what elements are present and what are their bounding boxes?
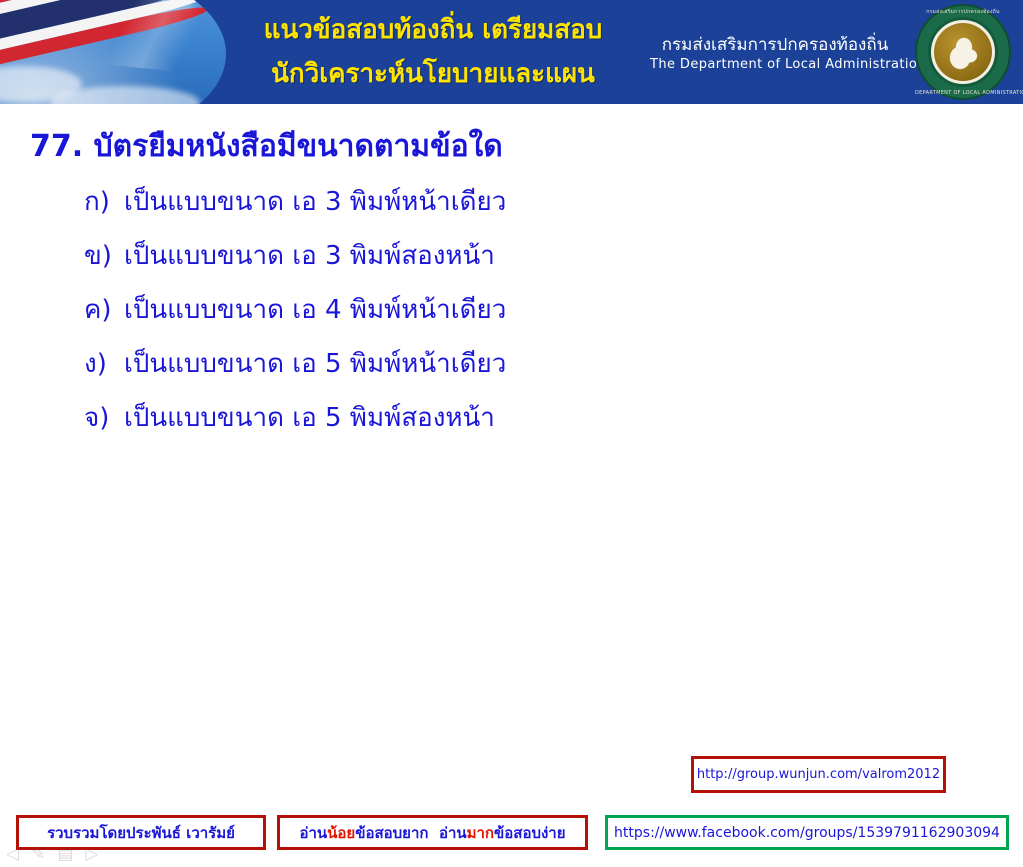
choice-key: จ)	[84, 402, 124, 434]
pen-tool-icon[interactable]: ✎	[31, 841, 45, 867]
choice-option-ka[interactable]: ก) เป็นแบบขนาด เอ 3 พิมพ์หน้าเดียว	[84, 186, 944, 240]
seal-text-english: DEPARTMENT OF LOCAL ADMINISTRATION	[915, 90, 1011, 96]
website-url-box[interactable]: http://group.wunjun.com/valrom2012	[691, 756, 946, 793]
choice-key: ข)	[84, 240, 124, 272]
motto-gap	[428, 824, 438, 842]
thai-flag-graphic	[0, 0, 226, 104]
choice-text: เป็นแบบขนาด เอ 3 พิมพ์สองหน้า	[124, 240, 495, 272]
choice-option-cho[interactable]: จ) เป็นแบบขนาด เอ 5 พิมพ์สองหน้า	[84, 402, 944, 456]
motto-box: อ่านน้อยข้อสอบยาก อ่านมากข้อสอบง่าย	[277, 815, 588, 850]
choice-key: ก)	[84, 186, 124, 218]
header-banner: แนวข้อสอบท้องถิ่น เตรียมสอบ นักวิเคราะห์…	[0, 0, 1023, 104]
choice-text: เป็นแบบขนาด เอ 4 พิมพ์หน้าเดียว	[124, 294, 506, 326]
banner-title: แนวข้อสอบท้องถิ่น เตรียมสอบ นักวิเคราะห์…	[218, 8, 648, 96]
choice-option-ngo[interactable]: ง) เป็นแบบขนาด เอ 5 พิมพ์หน้าเดียว	[84, 348, 944, 402]
seal-text-thai: กรมส่งเสริมการปกครองท้องถิ่น	[915, 8, 1011, 16]
department-name-english: The Department of Local Administration	[650, 56, 900, 74]
next-slide-icon[interactable]: ▷	[85, 841, 98, 867]
motto-part-4: อ่าน	[439, 824, 467, 842]
banner-title-line1: แนวข้อสอบท้องถิ่น เตรียมสอบ	[264, 15, 603, 45]
previous-slide-icon[interactable]: ◁	[6, 841, 19, 867]
motto-highlight-2: มาก	[467, 824, 494, 842]
choice-option-kho[interactable]: ข) เป็นแบบขนาด เอ 3 พิมพ์สองหน้า	[84, 240, 944, 294]
choice-key: ค)	[84, 294, 124, 326]
choice-option-kho2[interactable]: ค) เป็นแบบขนาด เอ 4 พิมพ์หน้าเดียว	[84, 294, 944, 348]
slide-body: 77. บัตรยืมหนังสือมีขนาดตามข้อใด ก) เป็น…	[0, 104, 1023, 767]
singha-lion-icon	[939, 28, 987, 76]
choice-list: ก) เป็นแบบขนาด เอ 3 พิมพ์หน้าเดียว ข) เป…	[84, 186, 944, 456]
motto-text: อ่านน้อยข้อสอบยาก อ่านมากข้อสอบง่าย	[299, 821, 565, 845]
motto-part-6: ข้อสอบง่าย	[494, 824, 565, 842]
facebook-group-box[interactable]: https://www.facebook.com/groups/15397911…	[605, 815, 1009, 850]
choice-text: เป็นแบบขนาด เอ 5 พิมพ์หน้าเดียว	[124, 348, 506, 380]
department-seal-logo: กรมส่งเสริมการปกครองท้องถิ่น DEPARTMENT …	[915, 4, 1011, 100]
choice-key: ง)	[84, 348, 124, 380]
motto-highlight-1: น้อย	[327, 824, 355, 842]
motto-part-1: อ่าน	[299, 824, 327, 842]
website-url-text: http://group.wunjun.com/valrom2012	[697, 767, 940, 782]
choice-text: เป็นแบบขนาด เอ 3 พิมพ์หน้าเดียว	[124, 186, 506, 218]
slide-menu-icon[interactable]: ▤	[57, 841, 73, 867]
banner-title-line2: นักวิเคราะห์นโยบายและแผน	[218, 52, 648, 96]
choice-text: เป็นแบบขนาด เอ 5 พิมพ์สองหน้า	[124, 402, 495, 434]
presentation-nav-overlay[interactable]: ◁ ✎ ▤ ▷	[6, 841, 136, 867]
department-name-block: กรมส่งเสริมการปกครองท้องถิ่น The Departm…	[650, 34, 900, 74]
motto-part-3: ข้อสอบยาก	[355, 824, 428, 842]
question-title: 77. บัตรยืมหนังสือมีขนาดตามข้อใด	[30, 128, 503, 166]
facebook-group-url-text: https://www.facebook.com/groups/15397911…	[614, 825, 1000, 841]
department-name-thai: กรมส่งเสริมการปกครองท้องถิ่น	[650, 34, 900, 56]
